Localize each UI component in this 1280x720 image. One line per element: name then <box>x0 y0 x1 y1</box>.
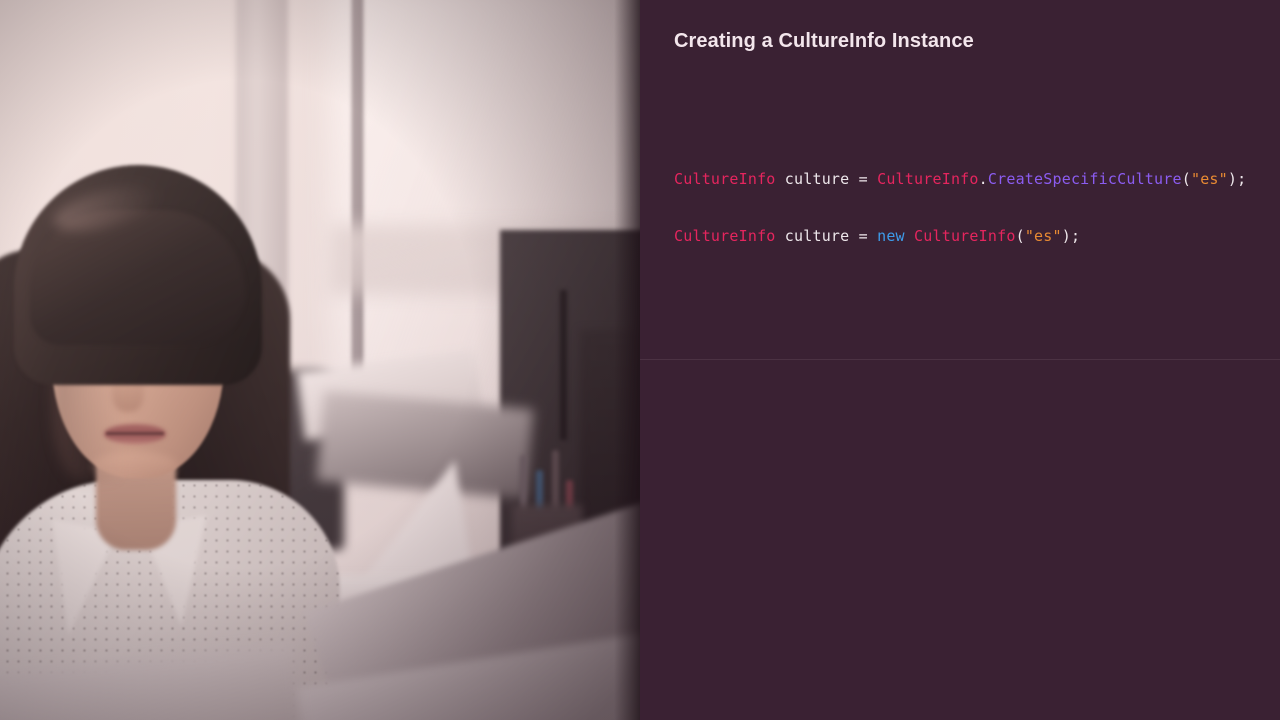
code-token-type: CultureInfo <box>914 227 1016 245</box>
code-token-string: "es" <box>1191 170 1228 188</box>
code-token-plain: culture = <box>776 170 878 188</box>
code-token-string: "es" <box>1025 227 1062 245</box>
code-token-plain <box>905 227 914 245</box>
section-title: Creating a CultureInfo Instance <box>674 30 974 53</box>
code-token-plain: ); <box>1062 227 1080 245</box>
code-token-plain: ( <box>1182 170 1191 188</box>
content-panel: Creating a CultureInfo Instance CultureI… <box>640 0 1280 720</box>
photo-edge-shadow <box>614 0 640 720</box>
photo-panel <box>0 0 640 720</box>
code-line: CultureInfo culture = CultureInfo.Create… <box>674 170 1246 188</box>
code-token-type: CultureInfo <box>877 170 979 188</box>
code-token-plain: ( <box>1016 227 1025 245</box>
section-creating-cultureinfo: Creating a CultureInfo Instance CultureI… <box>640 0 1280 359</box>
photo-vignette <box>0 0 640 720</box>
code-token-type: CultureInfo <box>674 170 776 188</box>
code-line: CultureInfo culture = new CultureInfo("e… <box>674 227 1080 245</box>
code-token-type: CultureInfo <box>674 227 776 245</box>
code-token-plain: . <box>979 170 988 188</box>
code-token-keyword: new <box>877 227 905 245</box>
code-token-plain: ); <box>1228 170 1246 188</box>
section-decimal-separator: Example: Decimal Separator var price = d… <box>640 360 1280 720</box>
slide: Creating a CultureInfo Instance CultureI… <box>0 0 1280 720</box>
code-token-plain: culture = <box>776 227 878 245</box>
code-token-method: CreateSpecificCulture <box>988 170 1182 188</box>
